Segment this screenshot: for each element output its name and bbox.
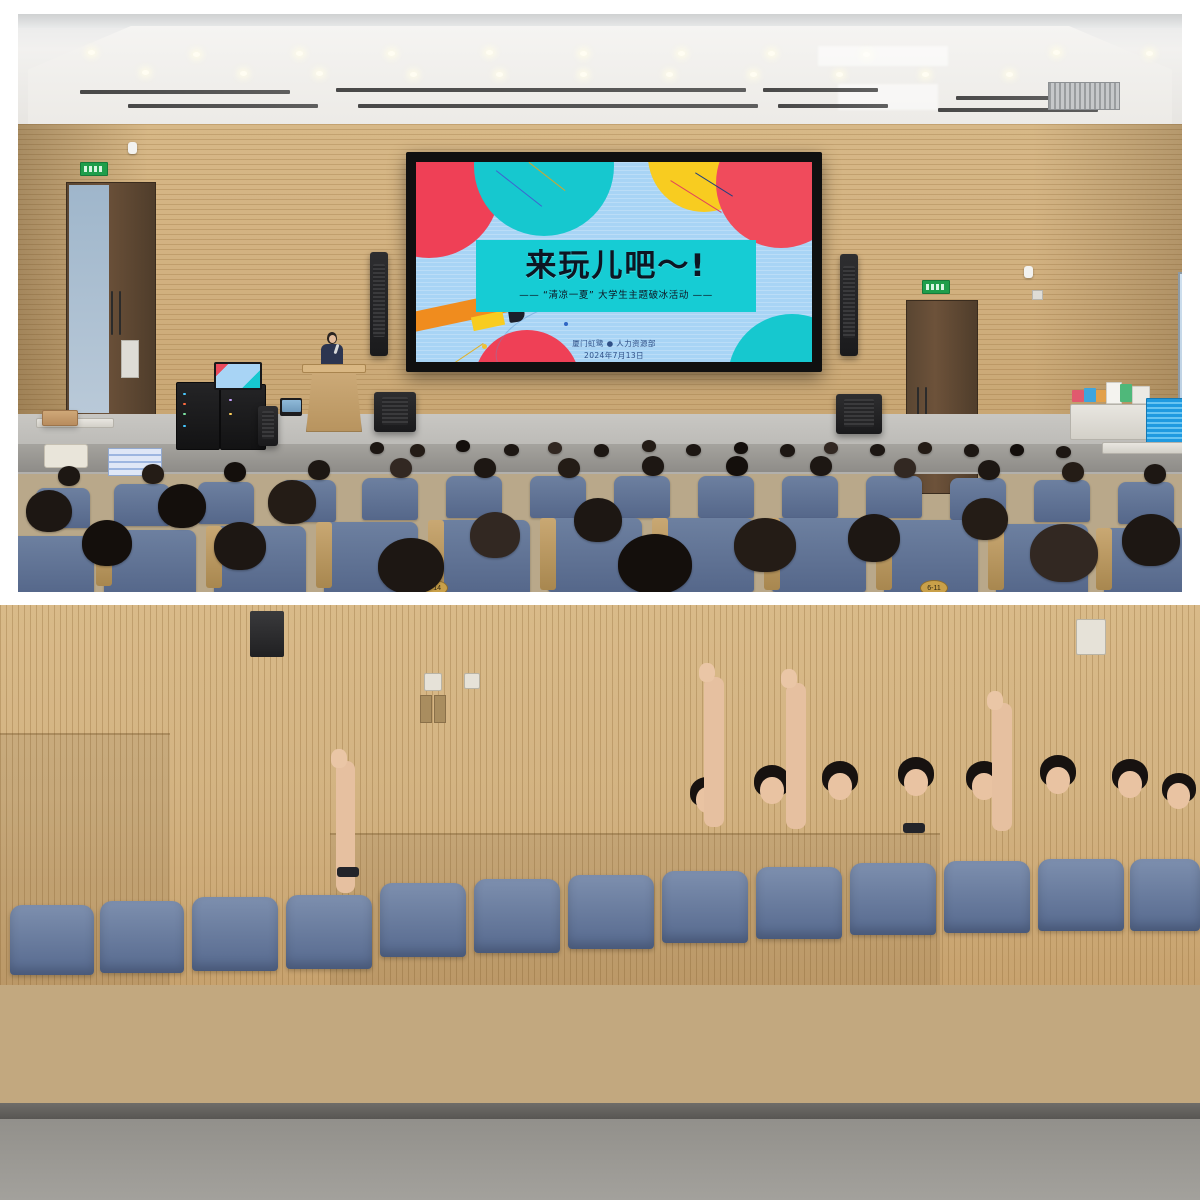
seat-number-plate: 6-11: [920, 580, 948, 592]
wrist-band-icon: [903, 823, 925, 833]
raised-hand-4: [781, 669, 797, 688]
wall-outlet-a: [424, 673, 442, 691]
security-camera-right-icon: [1024, 266, 1033, 278]
floor-bottom: [0, 1105, 1200, 1200]
wall-speaker-icon: [250, 611, 284, 657]
wall-control-panel-left: [121, 340, 139, 378]
wall-outlet-b: [464, 673, 480, 689]
slide-title-box: 来玩儿吧～! —— “清凉一夏” 大学生主题破冰活动 ——: [476, 240, 756, 312]
slide-footer: 厦门虹鹭 ● 人力资源部 2024年7月13日: [416, 338, 812, 361]
gift-item-blue: [1084, 388, 1096, 402]
stage-monitor-left: [374, 392, 416, 432]
wrist-watch-icon: [337, 867, 359, 877]
gift-item-green: [1120, 384, 1132, 402]
slide-date: 2024年7月13日: [416, 350, 812, 362]
slide-org: 厦门虹鹭 ● 人力资源部: [416, 338, 812, 350]
raised-hand-3: [699, 663, 715, 682]
gift-item-red: [1072, 390, 1084, 402]
raised-hand-2: [331, 749, 347, 768]
panel-top-auditorium-wide: 来玩儿吧～! —— “清凉一夏” 大学生主题破冰活动 —— 厦门虹鹭 ● 人力资…: [18, 14, 1182, 592]
cardboard-box-left: [42, 410, 78, 426]
av-rack-left: [176, 382, 220, 450]
presenter-face: [329, 335, 336, 343]
confidence-monitor: [214, 362, 262, 390]
raised-arm-4: [786, 683, 806, 829]
line-array-speaker-right: [840, 254, 858, 356]
podium: [306, 368, 362, 432]
exit-sign-left-icon: [80, 162, 108, 176]
wall-switch-a[interactable]: [420, 695, 432, 723]
presentation-slide: 来玩儿吧～! —— “清凉一夏” 大学生主题破冰活动 —— 厦门虹鹭 ● 人力资…: [416, 162, 812, 362]
panel-bottom-audience-closeup: 郑志宏 林志煜 叶耀超 SORRY I AM LATE 子健: [0, 605, 1200, 1200]
slide-title: 来玩儿吧～!: [525, 251, 706, 282]
confidence-monitor-screen: [216, 364, 260, 388]
gift-item-orange: [1096, 390, 1106, 402]
security-camera-left-icon: [128, 142, 137, 154]
line-array-speaker-left: [370, 252, 388, 356]
aisle-step: [0, 1103, 1200, 1119]
led-screen: 来玩儿吧～! —— “清凉一夏” 大学生主题破冰活动 —— 厦门虹鹭 ● 人力资…: [406, 152, 822, 372]
wall-vent-right: [1076, 619, 1106, 655]
raised-arm-3: [704, 677, 724, 827]
exit-sign-right-icon: [922, 280, 950, 294]
podium-top: [302, 364, 366, 373]
supply-bag-left: [44, 444, 88, 468]
side-table-right: [1102, 442, 1182, 454]
wall-switch-b[interactable]: [434, 695, 446, 723]
blue-crate-stack-a: [1146, 398, 1182, 444]
wall-switch-right: [1032, 290, 1043, 300]
stage-monitor-right: [836, 394, 882, 434]
prize-table: [1070, 404, 1158, 440]
photo-collage: 来玩儿吧～! —— “清凉一夏” 大学生主题破冰活动 —— 厦门虹鹭 ● 人力资…: [0, 0, 1200, 1200]
ceiling: [18, 14, 1182, 132]
raised-hand-5: [987, 691, 1003, 710]
door-left[interactable]: [66, 182, 156, 416]
raised-arm-5: [992, 703, 1012, 831]
subwoofer: [258, 406, 278, 446]
slide-subtitle: —— “清凉一夏” 大学生主题破冰活动 ——: [519, 287, 713, 301]
slide-dot-blue: [564, 322, 568, 326]
stage-floor-monitor: [280, 398, 302, 416]
ceiling-plane: [28, 26, 1172, 130]
